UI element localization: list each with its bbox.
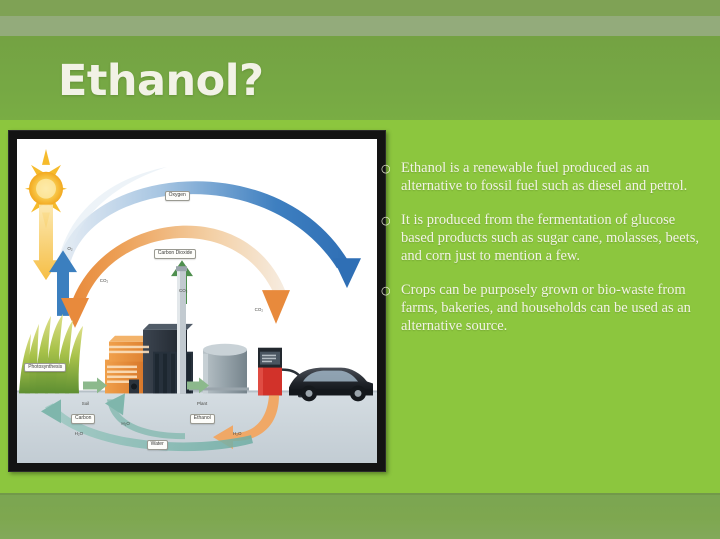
diagram-picture-frame: Oxygen Carbon Dioxide Photosynthesis Car… (8, 130, 386, 472)
bullet-text: Ethanol is a renewable fuel produced as … (401, 160, 701, 195)
bullet-text: It is produced from the fermentation of … (401, 212, 701, 265)
diagram-molecule-h2o-mid: H₂O (121, 421, 130, 426)
list-item: ○ Crops can be purposely grown or bio-wa… (381, 282, 701, 335)
diagram-molecule-co2-car: CO₂ (255, 307, 264, 312)
diagram-molecule-h2o-left: H₂O (75, 431, 84, 436)
diagram-molecule-h2o-right: H₂O (233, 431, 242, 436)
diagram-label-carbon-dioxide: Carbon Dioxide (154, 249, 196, 259)
diagram-molecule-soil-tag: Soil (82, 401, 90, 406)
diagram-label-water: Water (147, 440, 168, 450)
diagram-molecule-ethanol-tag: Plant (197, 401, 207, 406)
diagram-canvas: Oxygen Carbon Dioxide Photosynthesis Car… (17, 139, 377, 463)
footer-band (0, 495, 720, 539)
diagram-molecule-co2-mid: CO₂ (100, 278, 109, 283)
slide-title: Ethanol? (58, 60, 263, 103)
list-item: ○ It is produced from the fermentation o… (381, 212, 701, 265)
diagram-label-soil-carbon: Carbon (71, 414, 95, 424)
header-light-band (0, 16, 720, 36)
diagram-label-ethanol: Ethanol (190, 414, 215, 424)
bullet-text: Crops can be purposely grown or bio-wast… (401, 282, 701, 335)
bullet-marker-icon: ○ (381, 160, 401, 174)
header-top-band (0, 0, 720, 16)
diagram-label-oxygen: Oxygen (165, 191, 190, 201)
slide: Ethanol? (0, 0, 720, 539)
list-item: ○ Ethanol is a renewable fuel produced a… (381, 160, 701, 195)
bullet-marker-icon: ○ (381, 282, 401, 296)
diagram-molecule-o2: O₂ (67, 246, 72, 251)
diagram-label-photosynthesis: Photosynthesis (24, 363, 66, 373)
diagram-molecule-co2-stack: CO₂ (179, 288, 188, 293)
bullet-list: ○ Ethanol is a renewable fuel produced a… (381, 160, 701, 353)
bullet-marker-icon: ○ (381, 212, 401, 226)
